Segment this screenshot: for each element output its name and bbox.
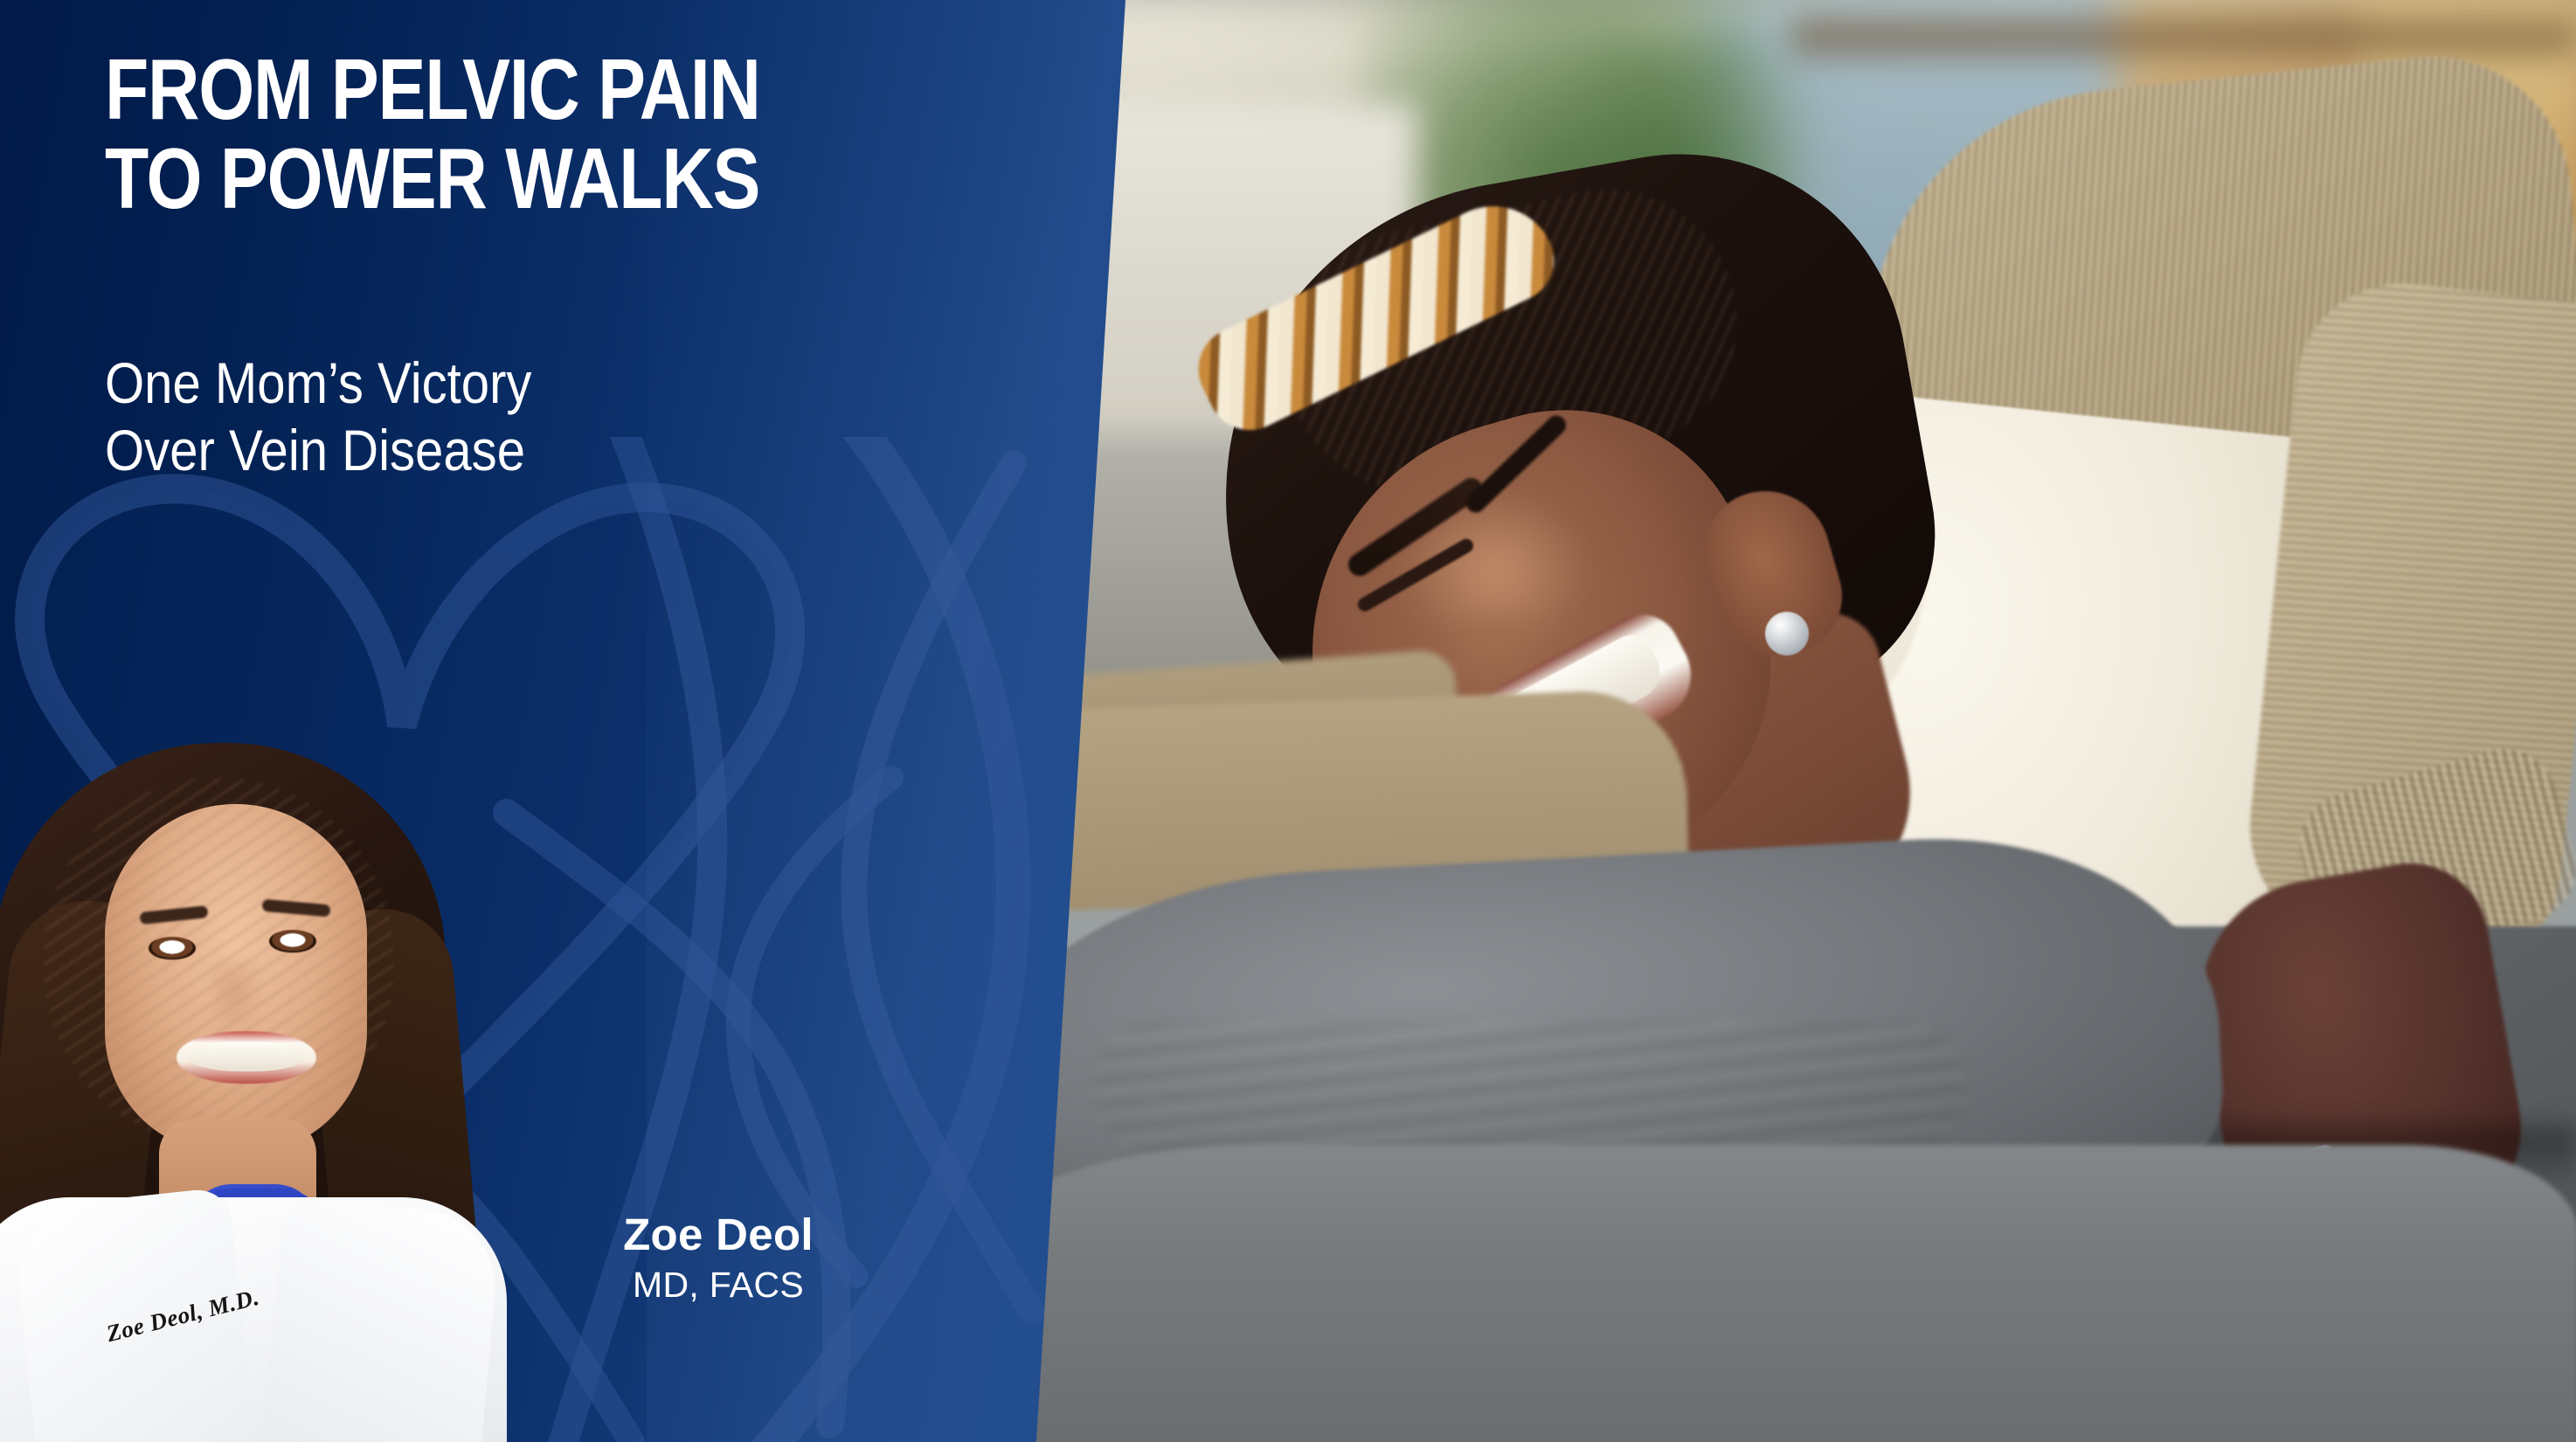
doctor-credential-block: Zoe Deol MD, FACS: [535, 1210, 902, 1306]
blue-info-panel: FROM PELVIC PAIN TO POWER WALKS One Mom’…: [0, 0, 1153, 1442]
lab-coat-lapel-right: [259, 1197, 502, 1442]
blurred-shelf: [1791, 17, 2576, 56]
doctor-portrait: Zoe Deol, M.D.: [0, 743, 516, 1442]
doctor-eye-right: [269, 930, 316, 953]
doctor-eye-left: [149, 937, 196, 960]
doctor-title: MD, FACS: [535, 1265, 902, 1306]
doctor-teeth: [188, 1042, 305, 1071]
marketing-banner: FROM PELVIC PAIN TO POWER WALKS One Mom’…: [0, 0, 2576, 1442]
couch-seat: [979, 1145, 2576, 1442]
pillow-creases: [1092, 1023, 1966, 1154]
patient-earring: [1765, 612, 1809, 655]
page-title: FROM PELVIC PAIN TO POWER WALKS: [105, 45, 760, 224]
doctor-name: Zoe Deol: [535, 1210, 902, 1259]
doctor-nose: [211, 961, 266, 1036]
page-subtitle: One Mom’s Victory Over Vein Disease: [105, 350, 531, 483]
